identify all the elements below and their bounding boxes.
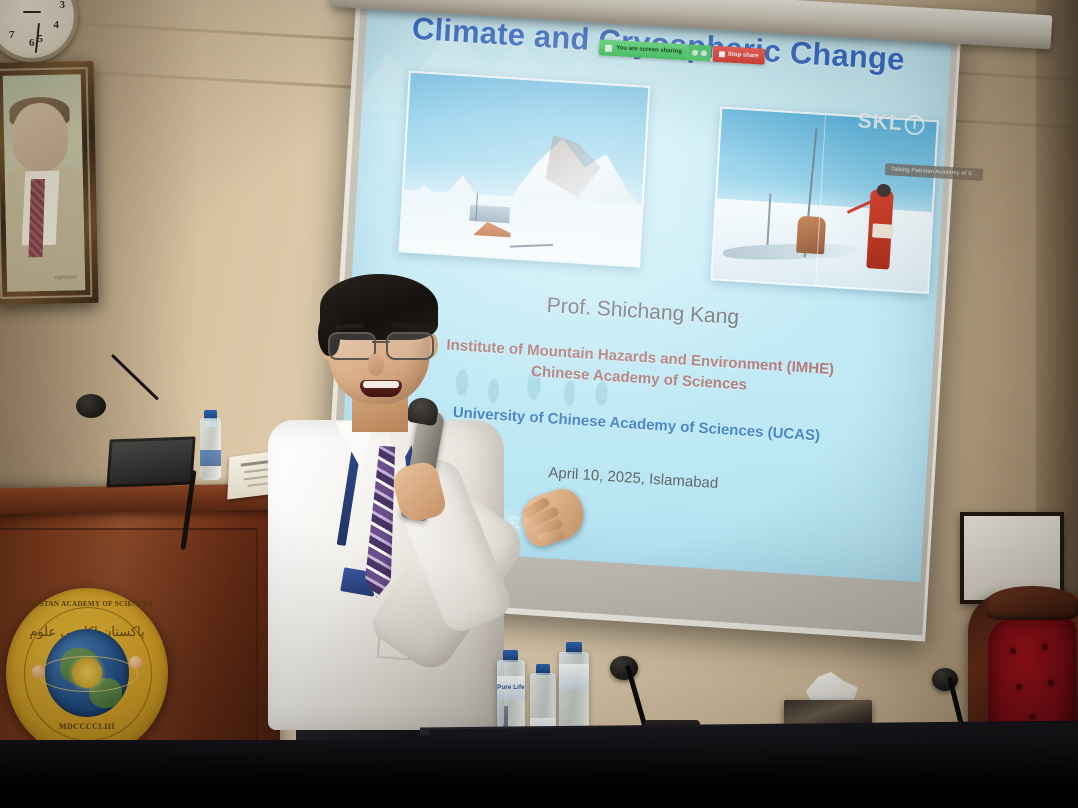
pakistan-academy-of-sciences-seal: PAKISTAN ACADEMY OF SCIENCES پاکستان اکا… [6,588,168,758]
finger-4 [537,530,564,544]
stop-share-button[interactable]: Stop share [712,46,765,65]
presentation-photo-scene: 3 4 5 6 7 signature Climate and Cryosphe… [0,0,1078,808]
clock-hour-hand [23,11,41,13]
seal-orbit-ball-left [32,665,45,678]
share-annotate-icon[interactable] [701,50,707,56]
presenter-mouth [360,380,402,397]
clock-numeral-7: 7 [9,29,15,41]
seal-top-text: PAKISTAN ACADEMY OF SCIENCES [6,600,168,608]
stop-square-icon [719,51,725,57]
table-microphone-1-head [610,656,638,680]
share-screen-icon [605,44,612,51]
clock-numeral-4: 4 [54,19,60,31]
presenter-teeth [363,381,399,388]
portrait-tie [29,179,45,257]
presenter-hand-gesturing [516,484,590,551]
presenter-eyeglasses [328,332,434,356]
laptop-screen [110,440,193,485]
eyeglass-lens-right [386,332,434,360]
clock-face: 3 4 5 6 7 [0,0,71,55]
seal-founding-year: MDCCCCLIII [6,722,168,731]
podium-bottle-label [200,450,221,466]
seal-atom-icon [72,658,101,689]
skl-logo: SKL [857,109,925,137]
podium-microphone-head [76,394,106,418]
share-controls-group[interactable] [687,44,711,61]
chair-tuft-1 [1010,648,1016,654]
table-bottle-3-label [559,664,589,690]
portrait-head [11,102,68,171]
clock-numeral-6: 6 [29,37,35,49]
chair-tuft-2 [1042,644,1048,650]
portrait-signature: signature [54,274,77,280]
clock-numeral-3: 3 [60,0,66,11]
skl-logo-text: SKL [857,109,903,136]
chair-tuft-3 [1016,684,1022,690]
slide-image-mountain-camp [398,71,650,268]
framed-portrait: signature [0,61,99,305]
photo2-crouching-researcher [796,216,826,255]
chair-tuft-4 [1048,680,1054,686]
portrait-canvas: signature [3,74,86,292]
conference-table [0,740,1078,808]
podium-water-bottle [200,418,221,480]
skl-logo-mark-icon [904,114,925,135]
podium-laptop[interactable] [106,436,195,487]
table-bottle-1-label: Pure Life [497,676,525,700]
photo2-equipment-bag [872,224,894,239]
presenter-nose [368,354,384,376]
share-status-text: You are screen sharing [616,45,682,55]
share-pause-icon[interactable] [692,50,698,56]
seal-orbit-ball-right [129,656,142,669]
chair-carved-crest [986,586,1078,620]
chair-tuft-5 [1030,714,1036,720]
stop-share-label: Stop share [728,52,759,60]
handheld-microphone-head [406,396,440,427]
